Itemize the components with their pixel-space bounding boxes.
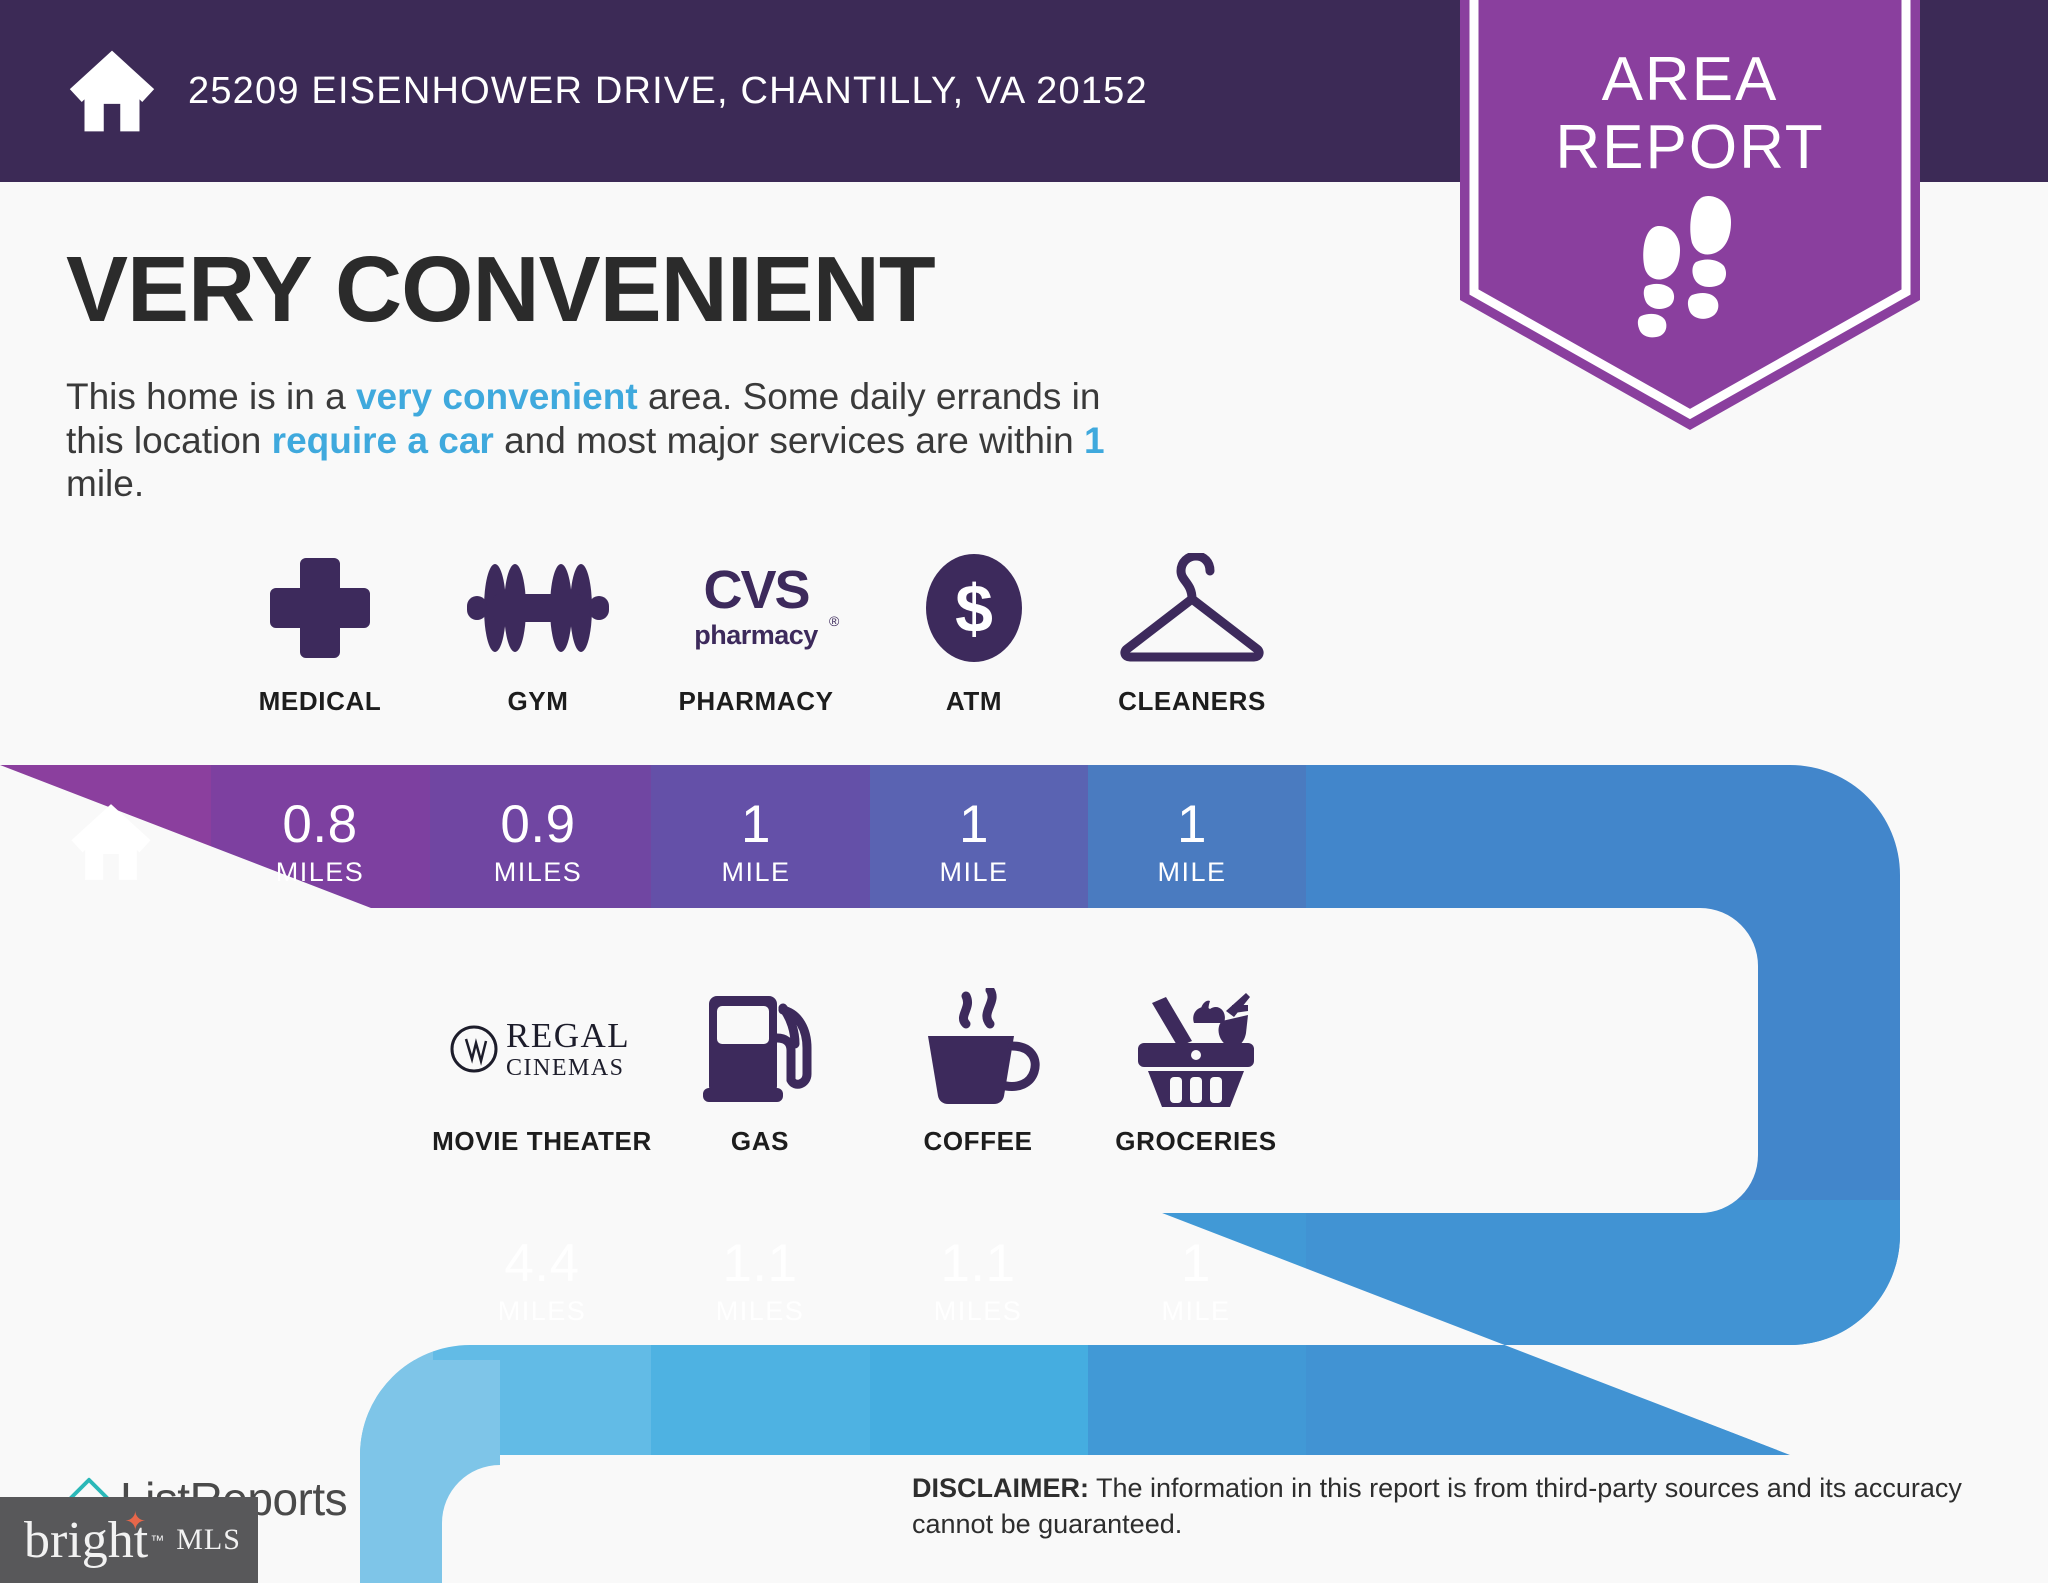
amenity-pharmacy[interactable]: CVS pharmacy ® PHARMACY (647, 548, 865, 717)
amenity-label: MOVIE THEATER (432, 1126, 652, 1157)
distance-unit: MILES (498, 1296, 587, 1327)
amenity-groceries[interactable]: GROCERIES (1087, 988, 1305, 1157)
distance-coffee: 1.1 MILES (869, 1205, 1087, 1359)
distance-pharmacy: 1 MILE (647, 766, 865, 920)
distance-gas: 1.1 MILES (651, 1205, 869, 1359)
distance-value: 1 (741, 798, 771, 851)
amenity-label: CLEANERS (1118, 686, 1266, 717)
subhead-part-1: This home is in a (66, 376, 356, 417)
distance-medical: 0.8 MILES (211, 766, 429, 920)
subhead-part-3: and most major services are within (494, 420, 1084, 461)
distance-value: 4.4 (504, 1237, 579, 1290)
amenity-gym[interactable]: GYM (429, 548, 647, 717)
distance-atm: 1 MILE (865, 766, 1083, 920)
home-icon (66, 47, 158, 135)
distance-unit: MILE (939, 857, 1008, 888)
area-report-badge: AREA REPORT (1460, 0, 1920, 430)
badge-line-2: REPORT (1555, 113, 1824, 182)
amenity-label: GROCERIES (1115, 1126, 1276, 1157)
distance-value: 1 (959, 798, 989, 851)
amenity-gas[interactable]: GAS (651, 988, 869, 1157)
distance-unit: MILE (1161, 1296, 1230, 1327)
disclaimer: DISCLAIMER: The information in this repo… (912, 1471, 1997, 1542)
distance-value: 1.1 (940, 1237, 1015, 1290)
amenity-label: COFFEE (923, 1126, 1032, 1157)
disclaimer-label: DISCLAIMER: (912, 1473, 1089, 1503)
svg-text:®: ® (829, 613, 840, 629)
amenity-label: GAS (731, 1126, 789, 1157)
distance-value: 1.1 (722, 1237, 797, 1290)
amenity-movie-theater[interactable]: REGAL CINEMAS MOVIE THEATER (433, 988, 651, 1157)
distance-unit: MILE (1157, 857, 1226, 888)
distance-unit: MILE (721, 857, 790, 888)
page-subtitle: This home is in a very convenient area. … (66, 375, 1126, 506)
clothes-hanger-icon (1117, 548, 1267, 668)
subhead-highlight-1: very convenient (356, 376, 638, 417)
badge-line-1: AREA (1602, 45, 1779, 114)
amenity-medical[interactable]: MEDICAL (211, 548, 429, 717)
amenity-icon-row-top: MEDICAL GYM (211, 548, 1301, 717)
distance-unit: MILES (494, 857, 583, 888)
bright-mls-logo: bright✦ ™ MLS (0, 1497, 258, 1583)
distance-unit: MILES (934, 1296, 1023, 1327)
svg-text:REGAL: REGAL (506, 1016, 630, 1055)
bright-wordmark: bright✦ (24, 1511, 148, 1570)
distance-row-top: 0.8 MILES 0.9 MILES 1 MILE 1 MILE 1 MILE (211, 766, 1301, 920)
amenity-label: ATM (946, 686, 1002, 717)
amenity-icon-row-bottom: REGAL CINEMAS MOVIE THEATER GAS (433, 988, 1305, 1157)
distance-value: 1 (1181, 1237, 1211, 1290)
distance-row-bottom: 4.4 MILES 1.1 MILES 1.1 MILES 1 MILE (433, 1205, 1305, 1359)
distance-unit: MILES (276, 857, 365, 888)
dollar-coin-icon: $ (922, 548, 1026, 668)
subhead-part-4: mile. (66, 463, 144, 504)
page-title: VERY CONVENIENT (66, 243, 935, 336)
distance-cleaners: 1 MILE (1083, 766, 1301, 920)
distance-unit: MILES (716, 1296, 805, 1327)
star-icon: ✦ (124, 1507, 146, 1537)
amenity-label: MEDICAL (259, 686, 382, 717)
home-icon-bar (68, 800, 154, 884)
trademark-symbol: ™ (150, 1532, 164, 1548)
amenity-cleaners[interactable]: CLEANERS (1083, 548, 1301, 717)
svg-text:CVS: CVS (703, 560, 808, 620)
svg-text:CINEMAS: CINEMAS (506, 1055, 625, 1081)
amenity-label: GYM (507, 686, 568, 717)
amenity-coffee[interactable]: COFFEE (869, 988, 1087, 1157)
dumbbell-icon (463, 548, 613, 668)
svg-text:pharmacy: pharmacy (694, 620, 818, 650)
svg-text:$: $ (955, 571, 993, 647)
area-report-page: 25209 EISENHOWER DRIVE, CHANTILLY, VA 20… (0, 0, 2048, 1583)
distance-gym: 0.9 MILES (429, 766, 647, 920)
distance-groceries: 1 MILE (1087, 1205, 1305, 1359)
mls-label: MLS (176, 1523, 241, 1557)
amenity-atm[interactable]: $ ATM (865, 548, 1083, 717)
property-address: 25209 EISENHOWER DRIVE, CHANTILLY, VA 20… (188, 70, 1148, 113)
cvs-pharmacy-logo: CVS pharmacy ® (671, 548, 841, 668)
amenity-label: PHARMACY (678, 686, 833, 717)
distance-value: 0.9 (500, 798, 575, 851)
regal-cinemas-logo: REGAL CINEMAS (448, 988, 636, 1108)
subhead-highlight-3: 1 (1084, 420, 1105, 461)
medical-cross-icon (268, 548, 372, 668)
distance-movie-theater: 4.4 MILES (433, 1205, 651, 1359)
distance-value: 1 (1177, 798, 1207, 851)
coffee-cup-icon (914, 988, 1042, 1108)
header-content: 25209 EISENHOWER DRIVE, CHANTILLY, VA 20… (66, 0, 1148, 182)
distance-value: 0.8 (282, 798, 357, 851)
subhead-highlight-2: require a car (272, 420, 494, 461)
grocery-basket-icon (1130, 988, 1262, 1108)
gas-pump-icon (699, 988, 821, 1108)
